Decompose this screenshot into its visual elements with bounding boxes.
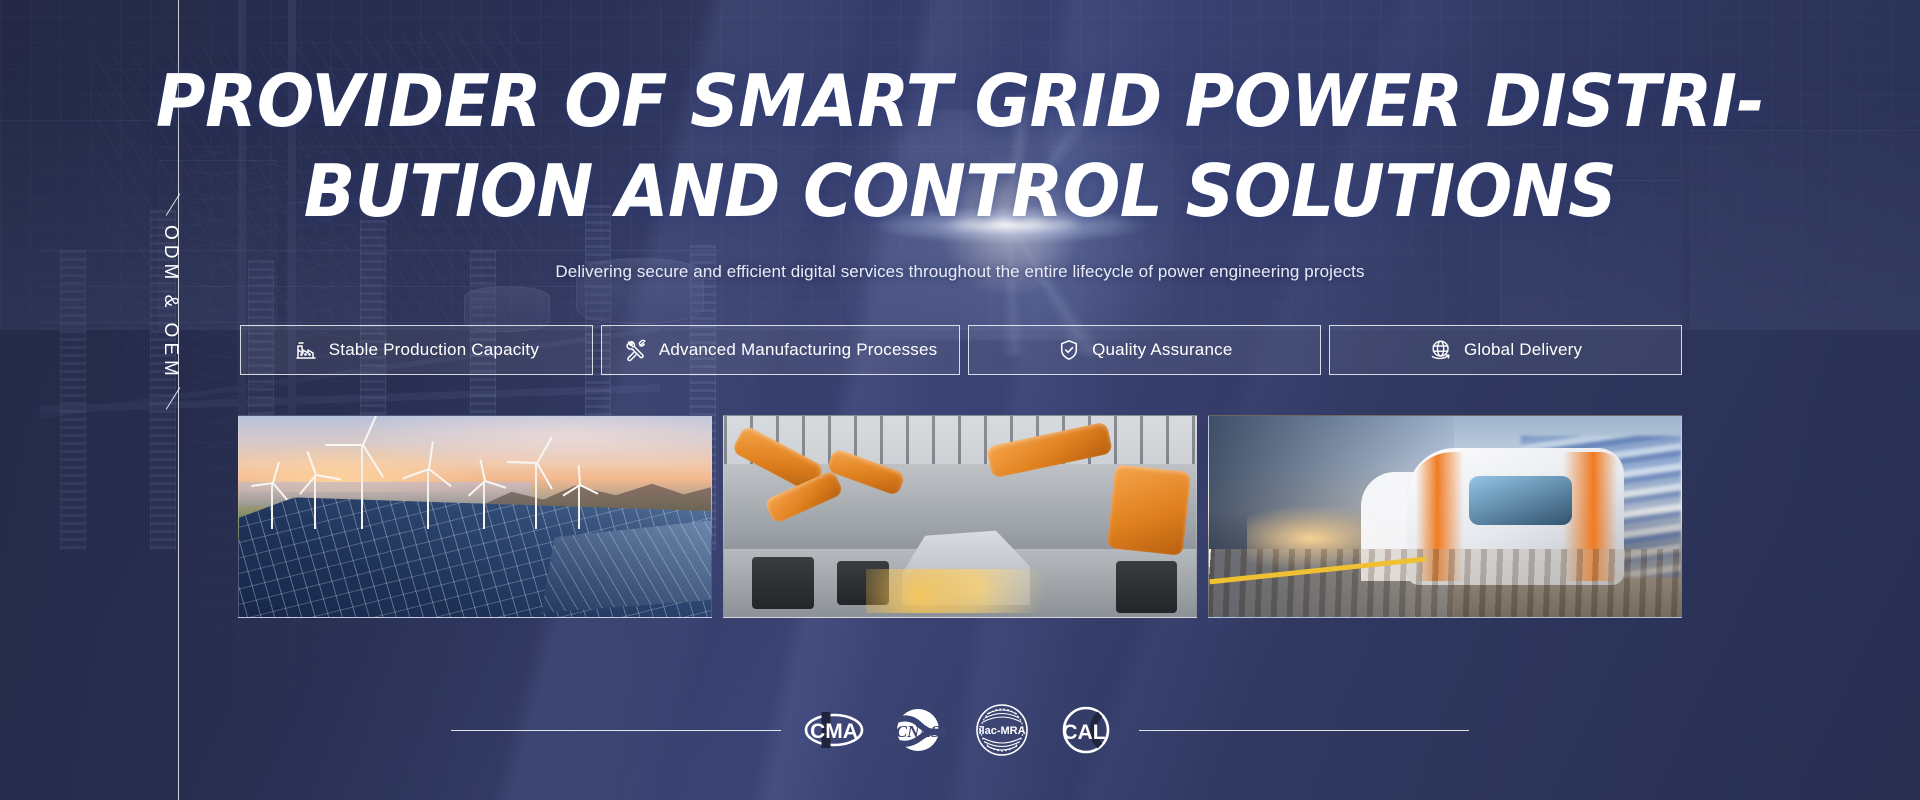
odm-oem-label: ODM & OEM <box>150 228 190 378</box>
feature-label: Advanced Manufacturing Processes <box>659 340 938 360</box>
feature-quality-assurance[interactable]: Quality Assurance <box>968 325 1321 375</box>
odm-oem-text: ODM & OEM <box>159 225 181 381</box>
robot-arm <box>1107 465 1191 557</box>
shield-check-icon <box>1057 338 1081 362</box>
page-subtitle: Delivering secure and efficient digital … <box>0 262 1920 282</box>
image-gallery <box>238 415 1682 618</box>
factory-icon <box>294 338 318 362</box>
railway-tracks <box>1209 549 1681 617</box>
gallery-image-renewable-energy[interactable] <box>238 415 712 618</box>
headline-line-1: PROVIDER OF SMART GRID POWER DISTRI- <box>156 59 1764 143</box>
robot-base <box>752 557 813 609</box>
headline-line-2: BUTION AND CONTROL SOLUTIONS <box>58 146 1863 236</box>
gallery-image-robotic-assembly[interactable] <box>723 415 1197 618</box>
feature-list: Stable Production Capacity Advanced Manu… <box>240 325 1682 375</box>
train-windshield <box>1469 476 1573 524</box>
gallery-image-high-speed-train[interactable] <box>1208 415 1682 618</box>
hero-banner: ODM & OEM PROVIDER OF SMART GRID POWER D… <box>0 0 1920 800</box>
feature-label: Quality Assurance <box>1092 340 1232 360</box>
cal-label: CAL <box>1062 721 1105 744</box>
feature-label: Stable Production Capacity <box>329 340 539 360</box>
robot-base <box>1116 561 1177 613</box>
tools-icon <box>624 338 648 362</box>
cma-label: CMA <box>810 720 858 743</box>
cert-divider-right <box>1139 730 1469 731</box>
cnas-badge: CNAS <box>887 702 949 758</box>
page-title: PROVIDER OF SMART GRID POWER DISTRI- BUT… <box>58 56 1863 236</box>
cert-divider-left <box>451 730 781 731</box>
globe-icon <box>1429 338 1453 362</box>
certification-badges: CMA CNAS <box>803 702 1117 758</box>
certification-row: CMA CNAS <box>0 698 1920 762</box>
cma-badge: CMA <box>803 702 865 758</box>
ilac-mra-badge: ilac-MRA <box>971 702 1033 758</box>
feature-global-delivery[interactable]: Global Delivery <box>1329 325 1682 375</box>
feature-advanced-manufacturing-processes[interactable]: Advanced Manufacturing Processes <box>601 325 961 375</box>
feature-stable-production-capacity[interactable]: Stable Production Capacity <box>240 325 593 375</box>
welding-sparks <box>866 569 1045 613</box>
cal-badge: CAL <box>1055 702 1117 758</box>
feature-label: Global Delivery <box>1464 340 1582 360</box>
ilac-mra-label: ilac-MRA <box>978 725 1025 737</box>
cnas-label: CNAS <box>896 722 940 741</box>
